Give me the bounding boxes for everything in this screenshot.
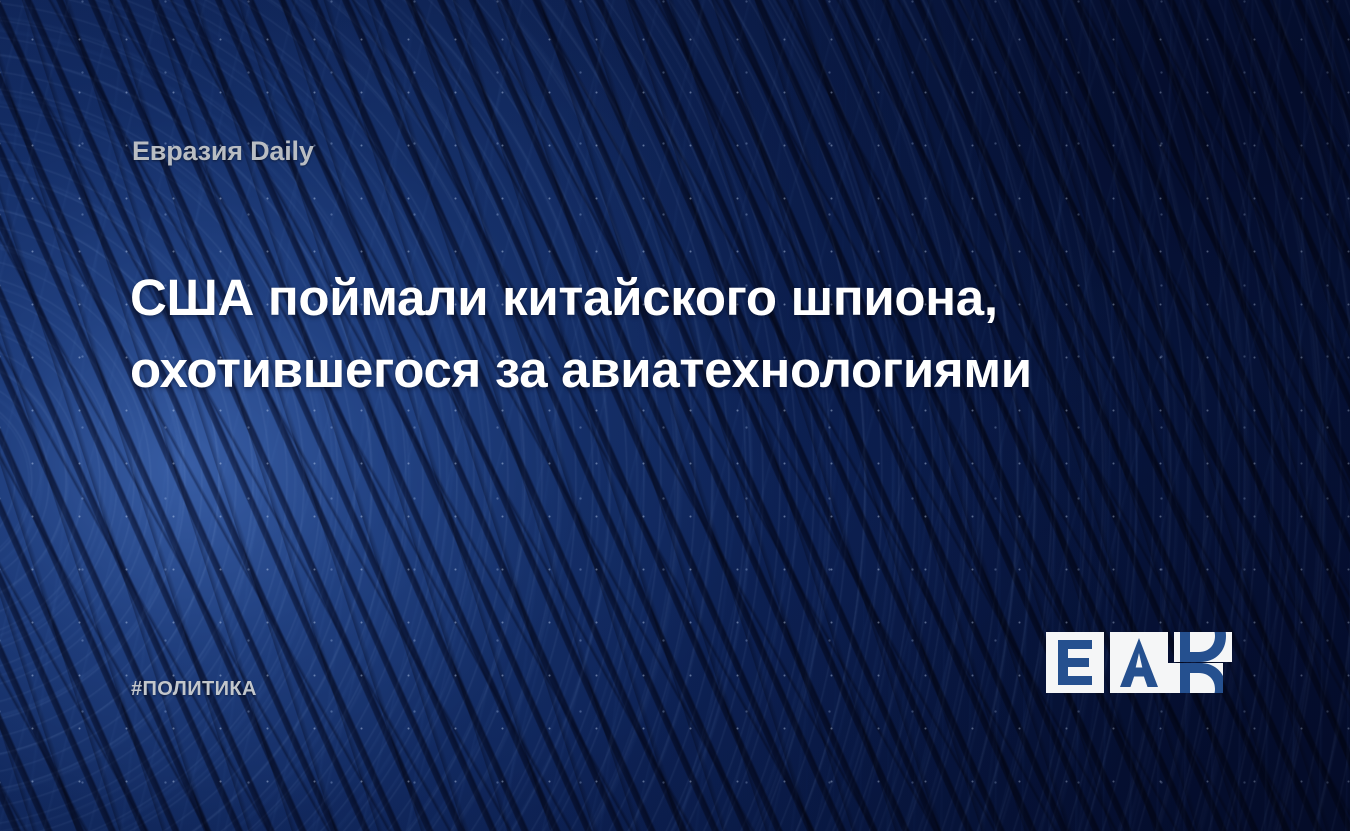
news-share-card: Евразия Daily США поймали китайского шпи… — [0, 0, 1350, 831]
logo-letter-a-icon — [1110, 632, 1168, 693]
logo-tile-a — [1110, 632, 1168, 693]
logo-tile-d-split — [1174, 632, 1232, 693]
ead-logo — [1046, 632, 1232, 693]
logo-letter-d-bottom-icon — [1165, 663, 1223, 693]
logo-letter-d-top-icon — [1174, 632, 1232, 662]
category-hashtag: #ПОЛИТИКА — [131, 678, 257, 701]
brand-name: Евразия Daily — [132, 136, 314, 167]
card-content: Евразия Daily США поймали китайского шпи… — [0, 0, 1350, 831]
logo-tile-d-top — [1174, 632, 1232, 662]
logo-tile-e — [1046, 632, 1104, 693]
logo-tile-d-bottom — [1165, 663, 1223, 693]
page-title: США поймали китайского шпиона, охотившег… — [130, 262, 1130, 407]
logo-letter-e-icon — [1046, 632, 1104, 693]
